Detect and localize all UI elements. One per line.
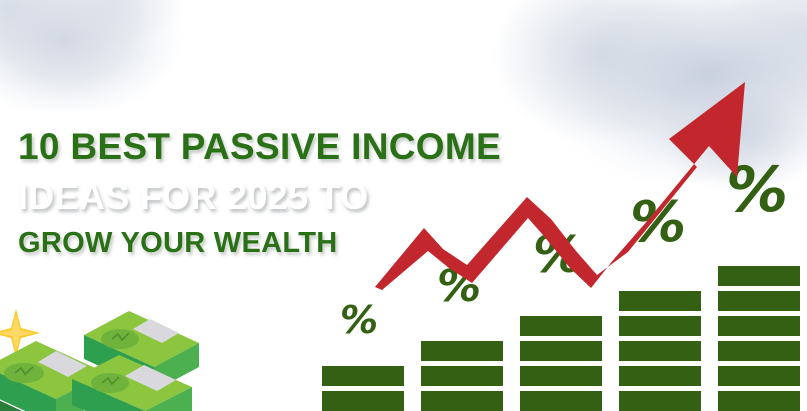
bar-segment (718, 266, 800, 286)
bar-segment (619, 366, 701, 386)
page-title: 10 BEST PASSIVE INCOME IDEAS FOR 2025 TO… (18, 128, 501, 258)
passive-income-banner: %%%%% (0, 0, 807, 411)
bar-segment (421, 341, 503, 361)
bar-column-3 (520, 316, 602, 411)
bar-segment (619, 341, 701, 361)
bar-segment (520, 341, 602, 361)
bar-segment (718, 341, 800, 361)
bar-segment (619, 316, 701, 336)
bar-segment (718, 391, 800, 411)
bar-segment (421, 366, 503, 386)
cloud-wisp-right-icon (472, 0, 807, 180)
bar-segment (520, 391, 602, 411)
bar-segment (322, 366, 404, 386)
percent-symbol-4: % (630, 195, 686, 251)
headline-line-2: IDEAS FOR 2025 TO (18, 179, 501, 215)
cash-stack-illustration (0, 297, 209, 411)
cloud-wisp-left-icon (0, 0, 190, 112)
bar-segment (619, 391, 701, 411)
cloud-wisp-right-lower-icon (637, 40, 807, 220)
bar-segment (718, 366, 800, 386)
percent-symbol-5: % (726, 159, 788, 221)
percent-symbol-3: % (533, 230, 583, 280)
bar-segment (421, 391, 503, 411)
bar-segment (718, 316, 800, 336)
bar-segment (520, 316, 602, 336)
bar-column-1 (322, 366, 404, 411)
headline-line-3: GROW YOUR WEALTH (18, 229, 501, 258)
bar-column-5 (718, 266, 800, 411)
percent-symbol-2: % (437, 265, 481, 309)
bar-segment (619, 291, 701, 311)
headline-line-1: 10 BEST PASSIVE INCOME (18, 128, 501, 165)
bar-segment (718, 291, 800, 311)
percent-symbol-1: % (340, 301, 378, 339)
bar-segment (322, 391, 404, 411)
bar-segment (520, 366, 602, 386)
bar-column-4 (619, 291, 701, 411)
bar-column-2 (421, 341, 503, 411)
